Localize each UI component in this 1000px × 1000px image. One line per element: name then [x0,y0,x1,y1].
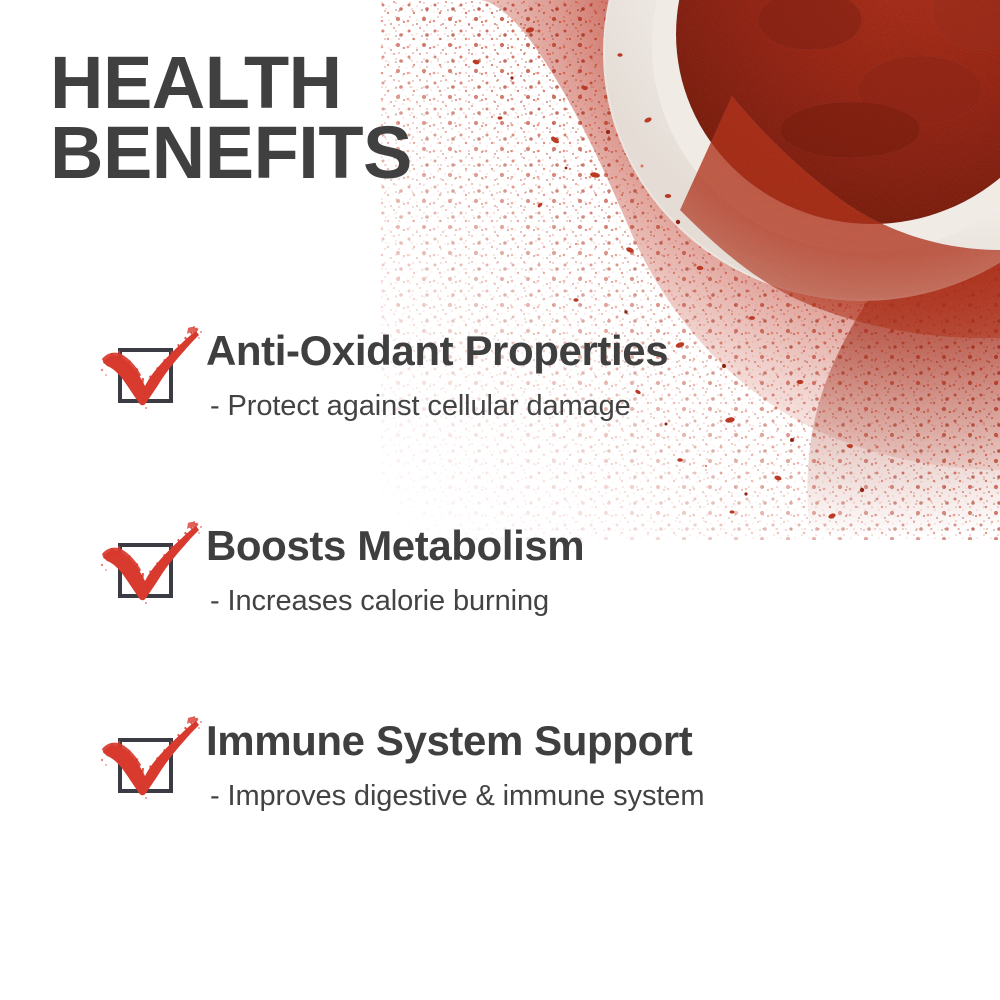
benefit-subtitle: - Protect against cellular damage [210,392,668,421]
red-checkmark-icon [100,326,204,412]
list-item: Boosts Metabolism - Increases calorie bu… [0,525,1000,720]
list-item-text: Immune System Support - Improves digesti… [206,720,704,811]
checked-checkbox-icon [118,348,178,408]
page-title-line-1: HEALTH [50,48,412,118]
page-title: HEALTH BENEFITS [50,48,412,189]
red-checkmark-icon [100,521,204,607]
checked-checkbox-icon [118,543,178,603]
benefit-title: Immune System Support [206,720,704,762]
benefit-title: Anti-Oxidant Properties [206,330,668,372]
benefits-list: Anti-Oxidant Properties - Protect agains… [0,330,1000,915]
benefit-title: Boosts Metabolism [206,525,584,567]
benefit-subtitle: - Improves digestive & immune system [210,782,704,811]
list-item-text: Anti-Oxidant Properties - Protect agains… [206,330,668,421]
list-item-text: Boosts Metabolism - Increases calorie bu… [206,525,584,616]
red-checkmark-icon [100,716,204,802]
benefit-subtitle: - Increases calorie burning [210,587,584,616]
list-item: Anti-Oxidant Properties - Protect agains… [0,330,1000,525]
page-title-line-2: BENEFITS [50,118,412,188]
checked-checkbox-icon [118,738,178,798]
health-benefits-infographic: HEALTH BENEFITS [0,0,1000,1000]
list-item: Immune System Support - Improves digesti… [0,720,1000,915]
